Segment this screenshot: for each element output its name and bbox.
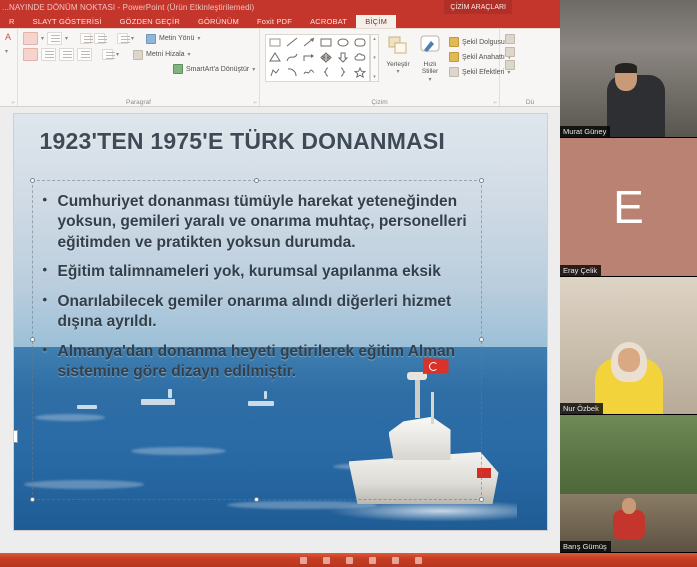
smartart-chevron-icon[interactable]: ▾ xyxy=(252,66,255,73)
move-handle-icon[interactable]: ✥ xyxy=(13,430,18,443)
taskbar-item-6[interactable] xyxy=(415,557,424,564)
shape-rectangle-icon[interactable] xyxy=(318,36,334,50)
replace-icon xyxy=(505,47,515,57)
ribbon-group-duzenleme-label: Dü xyxy=(500,99,560,106)
ribbon-group-font-partial: A ▾ ⌐ xyxy=(0,29,18,107)
slide-bullet-list[interactable]: Cumhuriyet donanması tümüyle harekat yet… xyxy=(40,192,470,392)
command-sekil-efektleri-label: Şekil Efektleri xyxy=(462,69,504,76)
gallery-more-icon[interactable]: ▾ xyxy=(373,74,376,80)
shape-arrow-icon[interactable] xyxy=(301,36,317,50)
taskbar-icon-4 xyxy=(369,557,376,564)
taskbar-icon-3 xyxy=(346,557,353,564)
gallery-scroll-up-icon[interactable]: ▴ xyxy=(373,36,376,42)
hizli-stiller-chevron-icon[interactable]: ▾ xyxy=(428,77,431,84)
shape-star-icon[interactable] xyxy=(352,66,368,80)
ribbon-group-paragraf-label: Paragraf xyxy=(18,99,259,106)
taskbar[interactable] xyxy=(0,553,697,567)
list-item[interactable]: Onarılabilecek gemiler onarıma alındı di… xyxy=(40,292,470,333)
resize-handle-sw[interactable] xyxy=(30,497,35,502)
numbering-icon[interactable] xyxy=(47,32,62,45)
taskbar-icon-6 xyxy=(415,557,422,564)
video-tile-nur-ozbek[interactable]: Nur Özbek xyxy=(560,277,697,415)
powerpoint-window: ...NAYINDE DÖNÜM NOKTASI - PowerPoint (Ü… xyxy=(0,0,560,567)
participant-name: Eray Çelik xyxy=(560,265,601,276)
shape-freeform-icon[interactable] xyxy=(267,66,283,80)
resize-handle-e[interactable] xyxy=(479,337,484,342)
taskbar-icon-2 xyxy=(323,557,330,564)
shape-right-brace-icon[interactable] xyxy=(335,66,351,80)
tab-foxit-pdf[interactable]: Foxit PDF xyxy=(248,15,301,29)
shape-outline-icon xyxy=(449,52,459,62)
increase-indent-icon[interactable] xyxy=(94,33,105,44)
command-smartart-donustur-label: SmartArt'a Dönüştür xyxy=(186,66,249,73)
avatar-initial: E xyxy=(560,138,697,275)
bullets-chevron-icon[interactable]: ▾ xyxy=(41,35,44,42)
chevron-down-icon[interactable]: ▾ xyxy=(5,48,8,55)
shape-arc-icon[interactable] xyxy=(284,66,300,80)
yerlestir-chevron-icon[interactable]: ▾ xyxy=(396,69,399,76)
resize-handle-w[interactable] xyxy=(30,337,35,342)
font-dialog-launcher[interactable]: ⌐ xyxy=(11,100,15,106)
resize-handle-ne[interactable] xyxy=(479,178,484,183)
slide-editing-area[interactable]: 1923'TEN 1975'E TÜRK DONANMASI Cumhuriye… xyxy=(0,107,560,553)
ribbon-group-duzenleme: Dü xyxy=(500,29,560,107)
arrange-icon xyxy=(385,34,411,60)
paragraf-dialog-launcher[interactable]: ⌐ xyxy=(253,100,257,106)
command-smartart-donustur[interactable]: SmartArt'a Dönüştür ▾ xyxy=(173,64,255,74)
line-spacing-icon[interactable] xyxy=(117,33,128,44)
shapes-gallery-scrollbar[interactable]: ▴ ▾ ▾ xyxy=(370,34,379,82)
video-tile-eray-celik[interactable]: E Eray Çelik xyxy=(560,138,697,276)
tab-gozden-gecir[interactable]: GÖZDEN GEÇİR xyxy=(111,15,189,29)
select-icon xyxy=(505,60,515,70)
tab-r[interactable]: R xyxy=(0,15,24,29)
resize-handle-s[interactable] xyxy=(254,497,259,502)
slide-canvas[interactable]: 1923'TEN 1975'E TÜRK DONANMASI Cumhuriye… xyxy=(13,113,548,531)
shape-elbow-arrow-icon[interactable] xyxy=(301,51,317,65)
taskbar-icon-1 xyxy=(300,557,307,564)
shape-fill-icon xyxy=(449,37,459,47)
align-text-icon xyxy=(133,50,143,60)
cizim-dialog-launcher[interactable]: ⌐ xyxy=(493,100,497,106)
list-item[interactable]: Eğitim talimnameleri yok, kurumsal yapıl… xyxy=(40,262,470,282)
columns-icon[interactable] xyxy=(102,49,113,60)
taskbar-item-5[interactable] xyxy=(392,557,401,564)
smartart-icon xyxy=(173,64,183,74)
font-color-icon[interactable]: A xyxy=(5,32,12,45)
align-center-icon[interactable] xyxy=(41,48,56,61)
window-title: ...NAYINDE DÖNÜM NOKTASI - PowerPoint (Ü… xyxy=(0,3,254,12)
command-metin-yonu-label: Metin Yönü xyxy=(159,35,194,42)
shape-line-icon[interactable] xyxy=(284,36,300,50)
title-bar: ...NAYINDE DÖNÜM NOKTASI - PowerPoint (Ü… xyxy=(0,0,560,14)
resize-handle-n[interactable] xyxy=(254,178,259,183)
video-tile-baris-gumus[interactable]: Barış Gümüş xyxy=(560,415,697,553)
tab-acrobat[interactable]: ACROBAT xyxy=(301,15,356,29)
tab-bicim[interactable]: BİÇİM xyxy=(356,15,396,29)
video-tile-murat-guney[interactable]: Murat Güney xyxy=(560,0,697,138)
resize-handle-nw[interactable] xyxy=(30,178,35,183)
bullets-icon[interactable] xyxy=(23,32,38,45)
quick-styles-icon xyxy=(417,34,443,60)
command-bul[interactable] xyxy=(505,34,515,44)
slide-title[interactable]: 1923'TEN 1975'E TÜRK DONANMASI xyxy=(40,128,527,155)
ribbon-group-cizim: ▴ ▾ ▾ Yerleştir ▾ xyxy=(260,29,500,107)
command-yerlestir[interactable]: Yerleştir ▾ xyxy=(385,34,411,76)
shape-down-arrow-icon[interactable] xyxy=(335,51,351,65)
shape-wave-icon[interactable] xyxy=(301,66,317,80)
list-item[interactable]: Cumhuriyet donanması tümüyle harekat yet… xyxy=(40,192,470,253)
tab-gorunum[interactable]: GÖRÜNÜM xyxy=(189,15,248,29)
decrease-indent-icon[interactable] xyxy=(80,33,91,44)
shape-cloud-icon[interactable] xyxy=(352,51,368,65)
command-sec[interactable] xyxy=(505,60,515,70)
shapes-gallery[interactable]: ▴ ▾ ▾ xyxy=(265,34,379,82)
taskbar-item-3[interactable] xyxy=(346,557,355,564)
text-direction-icon xyxy=(146,34,156,44)
command-metni-hizala-label: Metni Hizala xyxy=(146,51,185,58)
command-sekil-dolgusu-label: Şekil Dolgusu xyxy=(462,39,505,46)
shape-curve-icon[interactable] xyxy=(284,51,300,65)
participant-name: Barış Gümüş xyxy=(560,541,611,552)
shape-four-arrow-icon[interactable] xyxy=(318,51,334,65)
ribbon: A ▾ ⌐ ▾ ▾ ▾ xyxy=(0,29,560,107)
participant-name: Murat Güney xyxy=(560,126,610,137)
command-yerlestir-label: Yerleştir xyxy=(386,61,409,68)
taskbar-item-2[interactable] xyxy=(323,557,332,564)
video-participant-panel: Murat Güney E Eray Çelik Nur Özbek Barış… xyxy=(560,0,697,553)
shape-effects-icon xyxy=(449,67,459,77)
shape-ellipse-icon[interactable] xyxy=(335,36,351,50)
list-item[interactable]: Almanya'dan donanma heyeti getirilerek e… xyxy=(40,342,470,383)
justify-icon[interactable] xyxy=(77,48,92,61)
participant-name: Nur Özbek xyxy=(560,403,603,414)
command-degistir[interactable] xyxy=(505,47,515,57)
ribbon-group-paragraf: ▾ ▾ ▾ Metin Yönü ▾ xyxy=(18,29,260,107)
metin-yonu-chevron-icon[interactable]: ▾ xyxy=(197,35,200,42)
tab-slayt-gosterisi[interactable]: SLAYT GÖSTERİSİ xyxy=(24,15,111,29)
find-icon xyxy=(505,34,515,44)
shape-triangle-icon[interactable] xyxy=(267,51,283,65)
command-hizli-stiller[interactable]: Hızlı Stiller ▾ xyxy=(417,34,443,84)
resize-handle-se[interactable] xyxy=(479,497,484,502)
taskbar-icon-5 xyxy=(392,557,399,564)
command-metin-yonu[interactable]: Metin Yönü ▾ xyxy=(146,34,200,44)
shape-rounded-rect-icon[interactable] xyxy=(352,36,368,50)
gallery-scroll-down-icon[interactable]: ▾ xyxy=(373,55,376,61)
ribbon-group-cizim-label: Çizim xyxy=(260,99,499,106)
align-left-icon[interactable] xyxy=(23,48,38,61)
metni-hizala-chevron-icon[interactable]: ▾ xyxy=(188,51,191,58)
shape-textbox-icon[interactable] xyxy=(267,36,283,50)
command-sekil-anahatti-label: Şekil Anahattı xyxy=(462,54,505,61)
align-right-icon[interactable] xyxy=(59,48,74,61)
contextual-tab-group-label: ÇİZİM ARAÇLARI xyxy=(444,0,512,14)
numbering-chevron-icon[interactable]: ▾ xyxy=(65,35,68,42)
shape-left-brace-icon[interactable] xyxy=(318,66,334,80)
columns-chevron-icon[interactable]: ▾ xyxy=(116,51,119,58)
command-hizli-stiller-label: Hızlı Stiller xyxy=(417,61,443,76)
line-spacing-chevron-icon[interactable]: ▾ xyxy=(131,35,134,42)
command-metni-hizala[interactable]: Metni Hizala ▾ xyxy=(133,50,191,60)
taskbar-item-1[interactable] xyxy=(300,557,309,564)
ribbon-tab-strip: R SLAYT GÖSTERİSİ GÖZDEN GEÇİR GÖRÜNÜM F… xyxy=(0,14,560,29)
taskbar-item-4[interactable] xyxy=(369,557,378,564)
